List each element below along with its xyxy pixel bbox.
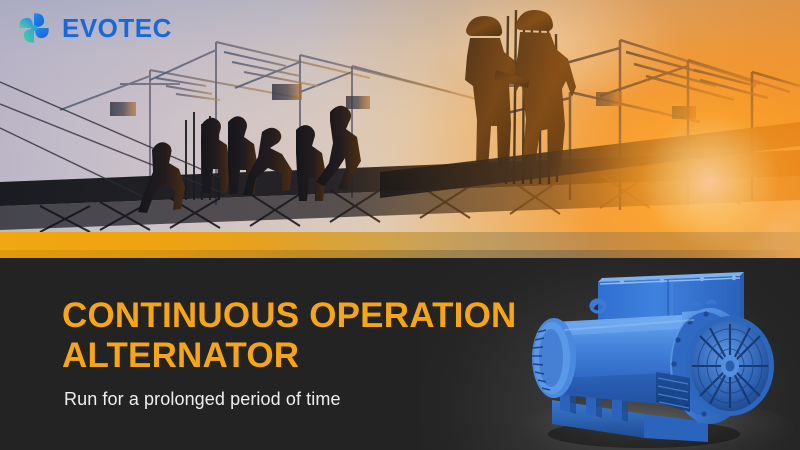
product-image-alternator [494, 262, 794, 450]
promo-banner: EVOTEC CONTINUOUS OPERATION ALTERNATOR R… [0, 0, 800, 450]
copy-block: CONTINUOUS OPERATION ALTERNATOR Run for … [62, 296, 522, 410]
pinwheel-icon [14, 8, 54, 48]
brand-name: EVOTEC [62, 15, 172, 41]
page-title: CONTINUOUS OPERATION ALTERNATOR [62, 296, 522, 375]
sun-flare [530, 38, 800, 258]
alternator-illustration [494, 262, 794, 450]
headline-line-1: CONTINUOUS OPERATION [62, 296, 516, 335]
brand-logo[interactable]: EVOTEC [14, 8, 172, 48]
subtitle: Run for a prolonged period of time [64, 389, 522, 410]
headline-line-2: ALTERNATOR [62, 336, 522, 376]
